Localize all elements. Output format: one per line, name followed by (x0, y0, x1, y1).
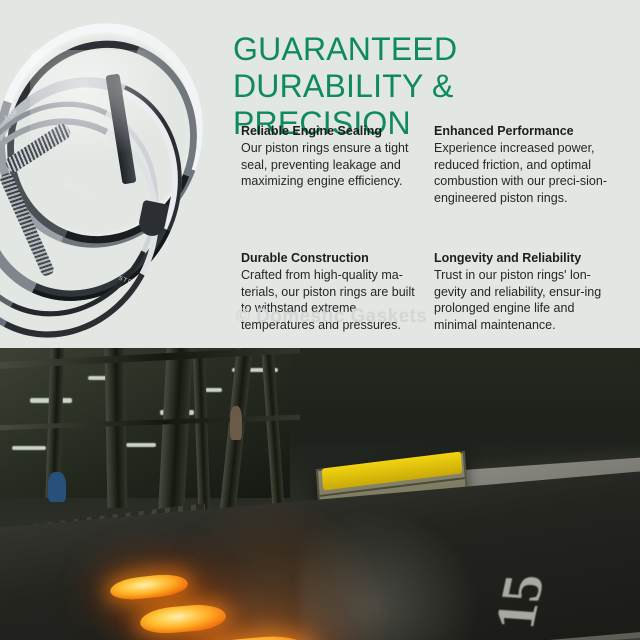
feature-title: Durable Construction (241, 250, 424, 266)
feature-row-1: Reliable Engine Sealing Our piston rings… (241, 123, 627, 206)
feature-enhanced-performance: Enhanced Performance Experience increase… (434, 123, 627, 206)
structural-column (105, 348, 128, 508)
ceiling-lamp (12, 446, 46, 450)
feature-body: Trust in our piston rings' lon-gevity an… (434, 267, 617, 333)
piston-rings-product-image: TOP MADE IN STD (0, 10, 235, 340)
floor-chalk-marking: 15 (482, 572, 558, 631)
feature-longevity-and-reliability: Longevity and Reliability Trust in our p… (434, 250, 627, 333)
feature-body: Experience increased power, reduced fric… (434, 140, 617, 206)
watermark: © Domestic Gaskets (236, 306, 427, 328)
factory-photo: 15 (0, 348, 640, 640)
feature-reliable-engine-sealing: Reliable Engine Sealing Our piston rings… (241, 123, 434, 206)
ceiling-lamp (126, 443, 156, 447)
worker-figure (230, 406, 242, 440)
smoke-haze (300, 508, 480, 640)
feature-grid: Reliable Engine Sealing Our piston rings… (241, 123, 627, 333)
feature-body: Our piston rings ensure a tight seal, pr… (241, 140, 424, 190)
worker-figure (48, 472, 66, 502)
feature-title: Longevity and Reliability (434, 250, 617, 266)
feature-title: Reliable Engine Sealing (241, 123, 424, 139)
promo-banner: TOP MADE IN STD GUARANTEED DURABILITY & … (0, 0, 640, 640)
feature-title: Enhanced Performance (434, 123, 617, 139)
feature-row-spacer (241, 206, 627, 250)
top-section: TOP MADE IN STD GUARANTEED DURABILITY & … (0, 0, 640, 348)
